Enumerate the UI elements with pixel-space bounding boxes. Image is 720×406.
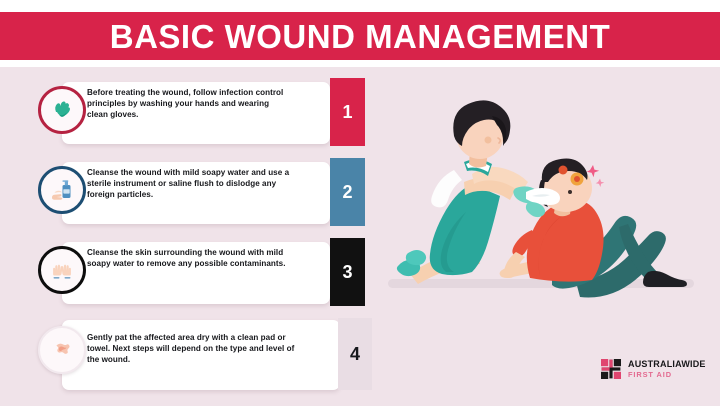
- step-number-4: 4: [350, 344, 360, 365]
- header-underline: [0, 60, 720, 67]
- logo-australia-text: AUSTRALIA: [628, 359, 681, 369]
- step-number-3: 3: [342, 262, 352, 283]
- gloves-icon: [38, 86, 86, 134]
- step-item-1: 1 Before treating the wound, follow infe…: [30, 78, 375, 158]
- step-badge-1: 1: [330, 78, 365, 146]
- brand-logo: AUSTRALIAWIDE FIRST AID: [600, 358, 706, 380]
- step-item-4: 4 Gently pat the affected area dry with …: [30, 318, 375, 404]
- first-aider-treating-seated-patient-illustration: [380, 96, 710, 312]
- top-white-margin: [0, 0, 720, 12]
- header-band: BASIC WOUND MANAGEMENT: [0, 12, 720, 60]
- logo-line-primary: AUSTRALIAWIDE: [628, 360, 706, 369]
- steps-list: 1 Before treating the wound, follow infe…: [30, 78, 375, 404]
- first-aid-cross-icon: [600, 358, 622, 380]
- logo-line-secondary: FIRST AID: [628, 371, 706, 378]
- step-number-2: 2: [342, 182, 352, 203]
- soap-dispenser-icon: [38, 166, 86, 214]
- infographic-root: BASIC WOUND MANAGEMENT 1 Before treating…: [0, 0, 720, 406]
- step-item-2: 2 Cleanse the wound with mild soapy wate…: [30, 158, 375, 238]
- step-number-1: 1: [342, 102, 352, 123]
- logo-wide-text: WIDE: [681, 359, 705, 369]
- step-text-4: Gently pat the affected area dry with a …: [87, 332, 302, 365]
- step-text-3: Cleanse the skin surrounding the wound w…: [87, 247, 292, 269]
- gauze-pad-icon: [38, 326, 86, 374]
- step-badge-3: 3: [330, 238, 365, 306]
- washing-hands-icon: [38, 246, 86, 294]
- step-badge-2: 2: [330, 158, 365, 226]
- step-item-3: 3 Cleanse the skin surrounding the wound…: [30, 238, 375, 318]
- page-title: BASIC WOUND MANAGEMENT: [110, 20, 610, 53]
- step-badge-4: 4: [338, 318, 372, 390]
- step-text-1: Before treating the wound, follow infect…: [87, 87, 292, 120]
- step-text-2: Cleanse the wound with mild soapy water …: [87, 167, 292, 200]
- logo-wordmark: AUSTRALIAWIDE FIRST AID: [628, 360, 706, 378]
